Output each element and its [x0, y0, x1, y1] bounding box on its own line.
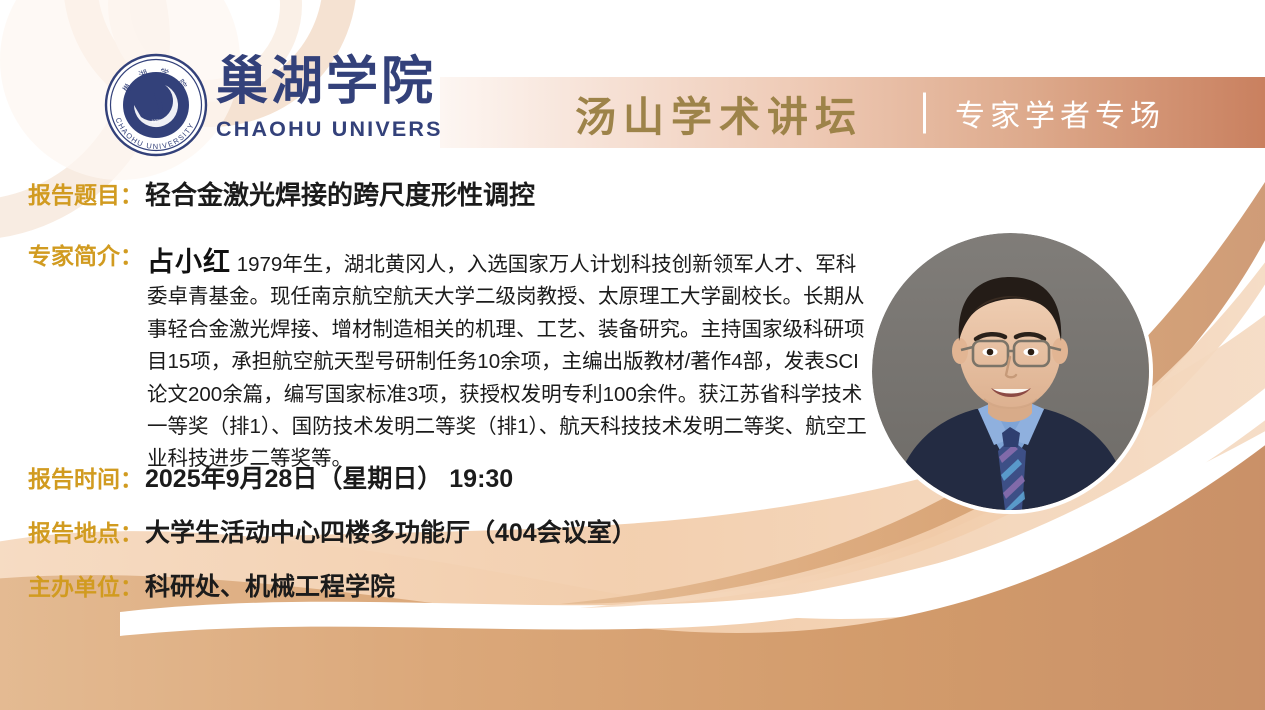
label-report-place: 报告地点：: [28, 517, 143, 549]
university-name-cn: 巢湖学院: [216, 52, 476, 114]
university-name-block: 巢湖学院 CHAOHU UNIVERSITY: [216, 52, 476, 156]
row-speaker-bio: 专家简介： 占小红 1979年生，湖北黄冈人，入选国家万人计划科技创新领军人才、…: [28, 240, 878, 476]
speaker-name: 占小红: [147, 247, 231, 277]
banner-divider: [923, 92, 926, 133]
label-speaker-bio: 专家简介：: [28, 240, 143, 272]
banner-main-title: 汤山学术讲坛: [575, 83, 863, 143]
value-organizer: 科研处、机械工程学院: [145, 571, 395, 603]
university-logo: 1977 巢 湖 学 院 CHAOHU UNIVERSITY: [104, 53, 208, 157]
label-organizer: 主办单位：: [28, 571, 143, 603]
speaker-bio-text: 1979年生，湖北黄冈人，入选国家万人计划科技创新领军人才、军科委卓青基金。现任…: [147, 253, 867, 470]
row-report-title: 报告题目： 轻合金激光焊接的跨尺度形性调控: [28, 179, 535, 211]
seminar-poster: 1977 巢 湖 学 院 CHAOHU UNIVERSITY 巢湖学院 CHAO…: [0, 0, 1265, 710]
university-name-en: CHAOHU UNIVERSITY: [216, 116, 476, 142]
svg-text:1977: 1977: [151, 120, 162, 125]
value-report-title: 轻合金激光焊接的跨尺度形性调控: [145, 179, 535, 211]
series-banner: 汤山学术讲坛 专家学者专场: [440, 77, 1265, 148]
speaker-portrait-image: [872, 233, 1149, 510]
speaker-bio-body: 占小红 1979年生，湖北黄冈人，入选国家万人计划科技创新领军人才、军科委卓青基…: [147, 240, 871, 476]
label-report-time: 报告时间：: [28, 463, 143, 495]
label-report-title: 报告题目：: [28, 179, 143, 211]
row-report-time: 报告时间： 2025年9月28日（星期日） 19:30: [28, 463, 513, 495]
value-report-place: 大学生活动中心四楼多功能厅（404会议室）: [145, 517, 637, 549]
poster-header: 1977 巢 湖 学 院 CHAOHU UNIVERSITY 巢湖学院 CHAO…: [0, 0, 1265, 160]
speaker-portrait: [872, 233, 1149, 510]
row-report-place: 报告地点： 大学生活动中心四楼多功能厅（404会议室）: [28, 517, 637, 549]
university-seal-icon: 1977 巢 湖 学 院 CHAOHU UNIVERSITY: [104, 53, 208, 157]
value-report-time: 2025年9月28日（星期日） 19:30: [145, 463, 513, 495]
banner-sub-title: 专家学者专场: [955, 91, 1165, 135]
row-organizer: 主办单位： 科研处、机械工程学院: [28, 571, 395, 603]
